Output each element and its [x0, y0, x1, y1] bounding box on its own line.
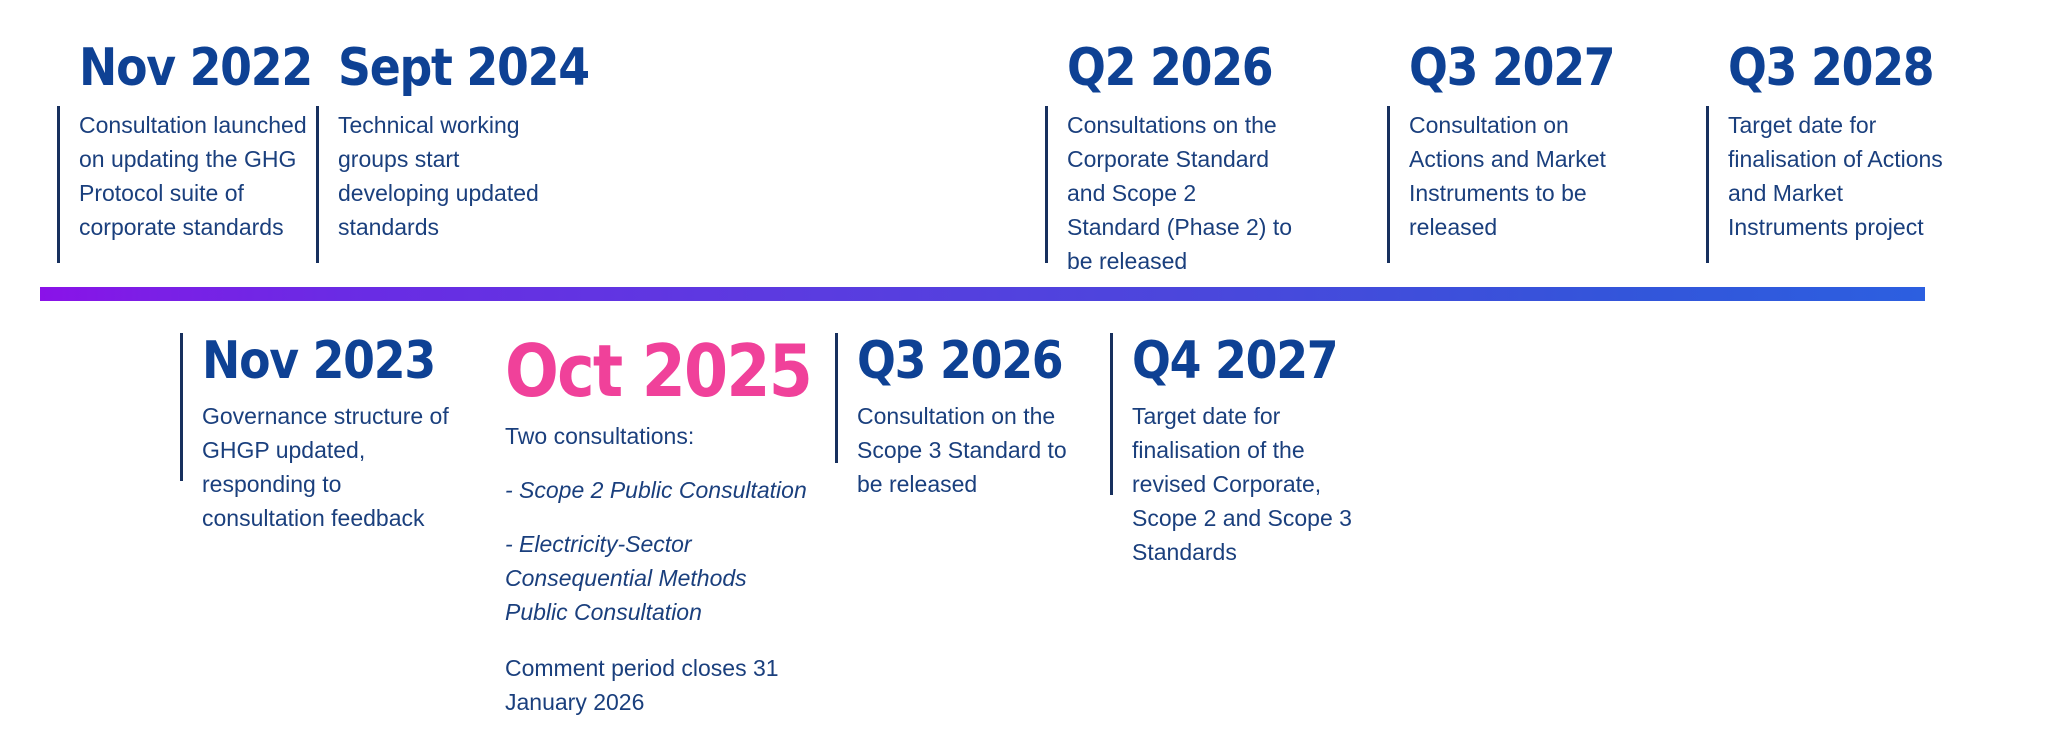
milestone-tick-q3-2027 — [1387, 106, 1390, 263]
milestone-date-sept-2024: Sept 2024 — [338, 40, 589, 96]
gradient-timeline-bar — [40, 287, 1925, 301]
milestone-description-q2-2026: Consultations on the Corporate Standard … — [1067, 108, 1295, 278]
milestone-description-nov-2023: Governance structure of GHGP updated, re… — [202, 399, 460, 535]
milestone-comment-period-oct-2025: Comment period closes 31 January 2026 — [505, 651, 807, 719]
milestone-tick-nov-2022 — [57, 106, 60, 263]
milestone-description-q3-2026: Consultation on the Scope 3 Standard to … — [857, 399, 1095, 501]
milestone-date-nov-2022: Nov 2022 — [79, 40, 312, 96]
timeline-infographic: Nov 2022 Consultation launched on updati… — [0, 0, 2048, 733]
milestone-intro-oct-2025: Two consultations: — [505, 419, 807, 453]
milestone-date-oct-2025: Oct 2025 — [505, 333, 771, 409]
milestone-description-nov-2022: Consultation launched on updating the GH… — [79, 108, 307, 244]
milestone-tick-q4-2027 — [1110, 333, 1113, 495]
milestone-tick-q3-2026 — [835, 333, 838, 463]
milestone-date-q2-2026: Q2 2026 — [1067, 40, 1272, 96]
milestone-description-sept-2024: Technical working groups start developin… — [338, 108, 566, 244]
milestone-description-q4-2027: Target date for finalisation of the revi… — [1132, 399, 1380, 569]
milestone-date-q4-2027: Q4 2027 — [1132, 333, 1350, 389]
milestone-tick-sept-2024 — [316, 106, 319, 263]
milestone-tick-q3-2028 — [1706, 106, 1709, 263]
milestone-consultation-item-1: - Scope 2 Public Consultation — [505, 473, 807, 507]
milestone-tick-q2-2026 — [1045, 106, 1048, 263]
milestone-date-q3-2026: Q3 2026 — [857, 333, 1066, 389]
milestone-description-q3-2027: Consultation on Actions and Market Instr… — [1409, 108, 1637, 244]
milestone-date-nov-2023: Nov 2023 — [202, 333, 429, 389]
milestone-description-q3-2028: Target date for finalisation of Actions … — [1728, 108, 1966, 244]
milestone-consultation-item-2: - Electricity-Sector Consequential Metho… — [505, 527, 807, 629]
milestone-date-q3-2028: Q3 2028 — [1728, 40, 1933, 96]
milestone-tick-nov-2023 — [180, 333, 183, 481]
milestone-date-q3-2027: Q3 2027 — [1409, 40, 1614, 96]
